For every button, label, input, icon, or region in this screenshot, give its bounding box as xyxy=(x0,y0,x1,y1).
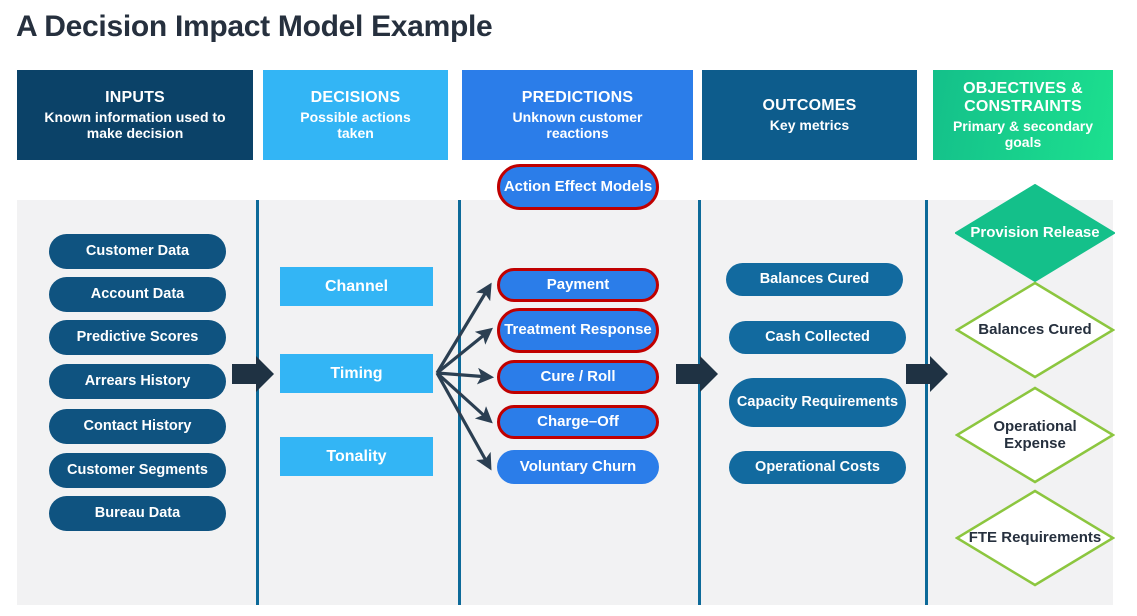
header-predictions-subtitle: Unknown customer reactions xyxy=(488,109,668,141)
input-pill-label: Customer Data xyxy=(86,244,189,260)
header-objectives-subtitle: Primary & secondary goals xyxy=(941,118,1106,150)
header-inputs-subtitle: Known information used to make decision xyxy=(30,109,240,141)
outcome-pill-label: Balances Cured xyxy=(760,272,870,288)
header-outcomes[interactable]: OUTCOMES Key metrics xyxy=(702,70,917,160)
prediction-pill-payment[interactable]: Payment xyxy=(497,268,659,302)
header-predictions-title: PREDICTIONS xyxy=(522,89,634,107)
input-pill-account-data[interactable]: Account Data xyxy=(49,277,226,312)
input-pill-label: Predictive Scores xyxy=(77,330,199,346)
decision-box-label: Channel xyxy=(325,278,388,296)
objective-diamond-provision-release[interactable]: Provision Release xyxy=(955,184,1115,282)
objective-diamond-operational-expense[interactable]: Operational Expense xyxy=(955,386,1115,484)
objective-diamond-label: Balances Cured xyxy=(955,321,1115,338)
decision-box-label: Tonality xyxy=(326,448,386,466)
prediction-pill-label: Payment xyxy=(547,277,610,294)
column-separator-4 xyxy=(925,200,928,605)
input-pill-label: Account Data xyxy=(91,287,184,303)
header-decisions-title: DECISIONS xyxy=(311,89,401,107)
objective-diamond-label: FTE Requirements xyxy=(955,529,1115,546)
outcome-pill-label: Capacity Requirements xyxy=(737,395,898,411)
input-pill-predictive-scores[interactable]: Predictive Scores xyxy=(49,320,226,355)
input-pill-label: Bureau Data xyxy=(95,506,180,522)
header-predictions[interactable]: PREDICTIONS Unknown customer reactions xyxy=(462,70,693,160)
decision-box-label: Timing xyxy=(330,365,382,383)
header-objectives[interactable]: OBJECTIVES & CONSTRAINTS Primary & secon… xyxy=(933,70,1113,160)
decision-box-channel[interactable]: Channel xyxy=(280,267,433,306)
outcome-pill-balances-cured[interactable]: Balances Cured xyxy=(726,263,903,296)
outcome-pill-cash-collected[interactable]: Cash Collected xyxy=(729,321,906,354)
column-separator-3 xyxy=(698,200,701,605)
input-pill-label: Contact History xyxy=(84,419,192,435)
decision-box-tonality[interactable]: Tonality xyxy=(280,437,433,476)
prediction-pill-cure-roll[interactable]: Cure / Roll xyxy=(497,360,659,394)
outcome-pill-operational-costs[interactable]: Operational Costs xyxy=(729,451,906,484)
input-pill-label: Customer Segments xyxy=(67,463,208,479)
header-outcomes-subtitle: Key metrics xyxy=(770,117,849,133)
objective-diamond-label: Operational Expense xyxy=(955,418,1115,453)
prediction-pill-label: Treatment Response xyxy=(504,322,652,339)
prediction-group-label: Action Effect Models xyxy=(504,179,652,196)
header-outcomes-title: OUTCOMES xyxy=(762,97,856,115)
prediction-pill-voluntary-churn[interactable]: Voluntary Churn xyxy=(497,450,659,484)
header-inputs-title: INPUTS xyxy=(105,89,165,107)
header-objectives-title: OBJECTIVES & CONSTRAINTS xyxy=(941,80,1106,117)
outcome-pill-label: Cash Collected xyxy=(765,330,870,346)
prediction-pill-label: Charge–Off xyxy=(537,414,619,431)
objective-diamond-balances-cured[interactable]: Balances Cured xyxy=(955,281,1115,379)
column-separator-2 xyxy=(458,200,461,605)
prediction-pill-charge-off[interactable]: Charge–Off xyxy=(497,405,659,439)
input-pill-label: Arrears History xyxy=(85,374,191,390)
column-separator-1 xyxy=(256,200,259,605)
prediction-pill-label: Cure / Roll xyxy=(540,369,615,386)
decision-box-timing[interactable]: Timing xyxy=(280,354,433,393)
objective-diamond-fte-requirements[interactable]: FTE Requirements xyxy=(955,489,1115,587)
prediction-pill-label: Voluntary Churn xyxy=(520,459,636,476)
outcome-pill-label: Operational Costs xyxy=(755,460,880,476)
input-pill-contact-history[interactable]: Contact History xyxy=(49,409,226,444)
input-pill-customer-data[interactable]: Customer Data xyxy=(49,234,226,269)
prediction-pill-treatment-response[interactable]: Treatment Response xyxy=(497,308,659,353)
input-pill-arrears-history[interactable]: Arrears History xyxy=(49,364,226,399)
header-inputs[interactable]: INPUTS Known information used to make de… xyxy=(17,70,253,160)
page-title: A Decision Impact Model Example xyxy=(16,10,492,44)
prediction-group-action-effect-models[interactable]: Action Effect Models xyxy=(497,164,659,210)
header-decisions-subtitle: Possible actions taken xyxy=(281,109,431,141)
objective-diamond-label: Provision Release xyxy=(955,224,1115,241)
header-decisions[interactable]: DECISIONS Possible actions taken xyxy=(263,70,448,160)
outcome-pill-capacity-requirements[interactable]: Capacity Requirements xyxy=(729,378,906,427)
diagram-canvas: A Decision Impact Model Example INPUTS K… xyxy=(0,0,1137,616)
input-pill-customer-segments[interactable]: Customer Segments xyxy=(49,453,226,488)
input-pill-bureau-data[interactable]: Bureau Data xyxy=(49,496,226,531)
